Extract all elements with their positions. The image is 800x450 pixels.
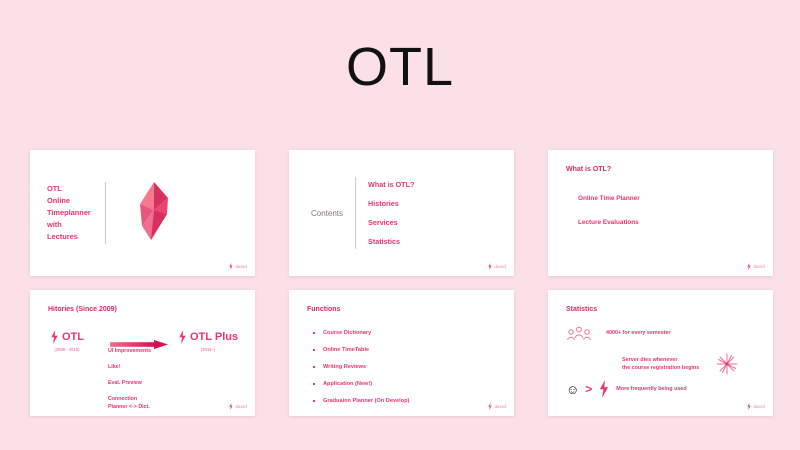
watermark: david [747,403,765,410]
contents-list: What is OTL? Histories Services Statisti… [368,180,414,246]
watermark-label: david [494,404,506,409]
watermark-label: david [494,264,506,269]
watermark-label: david [235,264,247,269]
statistic-text: Server dies whenever the course registra… [622,356,699,373]
watermark: david [229,263,247,270]
list-item: Lecture Evaluations [578,219,640,226]
whatis-lines: Online Time Planner Lecture Evaluations [578,195,640,226]
list-item: Connection Planner <-> Dict. [108,396,151,410]
slide-heading: Hitories (Since 2009) [48,306,117,313]
history-item-otl: OTL (2009 - 2015) [50,330,84,352]
list-item: Course Dictionary [313,330,409,336]
history-name: OTL [62,331,84,343]
page-title: OTL [0,40,800,94]
lightning-bolt-logo-icon [134,180,174,247]
cover-layout: OTL Online Timeplanner with Lectures [30,150,255,276]
watermark-label: david [753,404,765,409]
smiley-icon: ☺ [566,383,579,396]
list-item: Like! [108,364,151,371]
list-item-label: Course Dictionary [323,330,371,336]
list-item: Eval. Preview [108,380,151,387]
list-item: What is OTL? [368,180,414,189]
greater-than-icon: > [585,383,592,395]
statistic-text: 4000+ for every semester [606,329,671,337]
slide-contents[interactable]: Contents What is OTL? Histories Services… [289,150,514,276]
histories-feature-list: UI Improvements Like! Eval. Preview Conn… [108,348,151,411]
bolt-icon [747,263,751,270]
history-name-row: OTL Plus [178,330,238,344]
contents-label: Contents [311,209,343,218]
list-item-label: Graduaion Planner (On Develop) [323,398,409,404]
bullet-icon [313,400,315,402]
presentation-deck: OTL OTL Online Timeplanner with Lectures [0,0,800,450]
slide-what-is-otl[interactable]: What is OTL? Online Time Planner Lecture… [548,150,773,276]
functions-list: Course Dictionary Online TimeTable Writi… [313,330,409,404]
slide-heading: Functions [307,306,340,313]
bullet-icon [313,332,315,334]
contents-layout: Contents What is OTL? Histories Services… [289,150,514,276]
history-item-otl-plus: OTL Plus (2015~) [178,330,238,352]
list-item-label: Writing Reviews [323,364,366,370]
list-item: Graduaion Planner (On Develop) [313,398,409,404]
list-item: Online Time Planner [578,195,640,202]
bolt-icon [488,263,492,270]
statistic-row-usage: ☺ > More frequently being used [566,380,687,398]
contents-divider [355,177,356,249]
slide-cover[interactable]: OTL Online Timeplanner with Lectures [30,150,255,276]
bolt-icon [598,380,610,398]
watermark: david [229,403,247,410]
slide-heading: Statistics [566,306,597,313]
history-name: OTL Plus [190,331,238,343]
list-item-label: Online TimeTable [323,347,369,353]
bolt-icon [229,403,233,410]
watermark-label: david [753,264,765,269]
list-item: Writing Reviews [313,364,409,370]
history-years: (2009 - 2015) [54,347,79,352]
list-item: Application (New!) [313,381,409,387]
list-item: UI Improvements [108,348,151,355]
watermark-label: david [235,404,247,409]
slide-histories[interactable]: Hitories (Since 2009) OTL (2009 - 2015) [30,290,255,416]
statistic-row-server: Server dies whenever the course registra… [622,352,739,376]
slide-heading: What is OTL? [566,166,611,173]
list-item: Services [368,218,414,227]
bullet-icon [313,366,315,368]
statistic-row-users: 4000+ for every semester [566,326,671,341]
history-years: (2015~) [201,347,216,352]
list-item: Online TimeTable [313,347,409,353]
slide-statistics[interactable]: Statistics 4000+ for every semester Serv… [548,290,773,416]
cover-title: OTL Online Timeplanner with Lectures [47,183,91,243]
bolt-icon [178,330,187,344]
list-item: Histories [368,199,414,208]
bullet-icon [313,383,315,385]
history-name-row: OTL [50,330,84,344]
statistic-text: More frequently being used [616,385,686,393]
bullet-icon [313,349,315,351]
bolt-icon [488,403,492,410]
bolt-icon [50,330,59,344]
slide-functions[interactable]: Functions Course Dictionary Online TimeT… [289,290,514,416]
slide-grid: OTL Online Timeplanner with Lectures [30,150,773,416]
list-item-label: Application (New!) [323,381,372,387]
watermark: david [488,403,506,410]
watermark: david [747,263,765,270]
people-icon [566,326,592,341]
bolt-icon [747,403,751,410]
bolt-icon [229,263,233,270]
firework-icon [715,352,739,376]
watermark: david [488,263,506,270]
list-item: Statistics [368,237,414,246]
cover-divider [105,182,106,244]
